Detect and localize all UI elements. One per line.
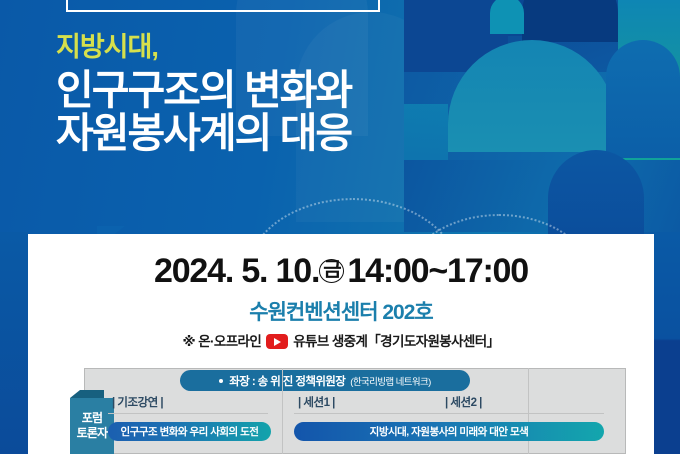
column-label-keynote: | 기조강연 |: [112, 394, 163, 410]
column-rule-1: [108, 413, 268, 414]
column-divider-2: [528, 368, 529, 454]
event-venue: 수원컨벤션센터 202호: [28, 296, 654, 326]
column-rule-2: [294, 413, 604, 414]
right-blue-rail: [654, 232, 680, 454]
title-block: 지방시대, 인구구조의 변화와 자원봉사계의 대응: [56, 34, 526, 156]
column-label-session-1: | 세션1 |: [298, 394, 335, 410]
event-datetime: 2024. 5. 10.금14:00~17:00: [28, 252, 654, 291]
decorative-arch-right: [606, 40, 680, 158]
decorative-arch-navy: [522, 0, 618, 42]
poster-title-line-1: 인구구조의 변화와: [56, 69, 526, 112]
column-divider-1: [282, 368, 283, 454]
day-of-week-badge: 금: [319, 259, 344, 283]
event-poster: 지방시대, 인구구조의 변화와 자원봉사계의 대응 2024. 5. 10.금1…: [0, 0, 680, 454]
note-prefix: ※ 온·오프라인: [183, 334, 262, 349]
decorative-arch-teal-small: [490, 0, 524, 34]
column-label-session-2: | 세션2 |: [445, 394, 482, 410]
bullet-dot-icon: [219, 379, 223, 383]
left-blue-rail: [0, 232, 28, 454]
keynote-topic-pill: 인구구조 변화와 우리 사회의 도전: [108, 422, 271, 441]
chairperson-organization: (한국리빙랩 네트워크): [350, 374, 430, 388]
program-columns: | 기조강연 | | 세션1 | | 세션2 | 인구구조 변화와 우리 사회의…: [100, 394, 612, 454]
event-date: 2024. 5. 10.: [154, 252, 319, 290]
broadcast-note: ※ 온·오프라인유튜브 생중계「경기도자원봉사센터」: [28, 330, 654, 350]
info-card: 2024. 5. 10.금14:00~17:00 수원컨벤션센터 202호 ※ …: [28, 234, 654, 454]
youtube-play-icon[interactable]: [266, 334, 288, 349]
note-suffix: 유튜브 생중계「경기도자원봉사센터」: [293, 334, 499, 349]
header-outline-box: [66, 0, 380, 12]
chairperson-label: 좌장 : 송 위 진 정책위원장: [229, 373, 345, 389]
session-topic-pill: 지방시대, 자원봉사의 미래와 대안 모색: [294, 422, 604, 441]
chairperson-badge: 좌장 : 송 위 진 정책위원장 (한국리빙랩 네트워크): [180, 370, 470, 391]
poster-subtitle: 지방시대,: [56, 34, 526, 61]
event-time-range: 14:00~17:00: [347, 252, 528, 290]
poster-title-line-2: 자원봉사계의 대응: [56, 112, 526, 155]
